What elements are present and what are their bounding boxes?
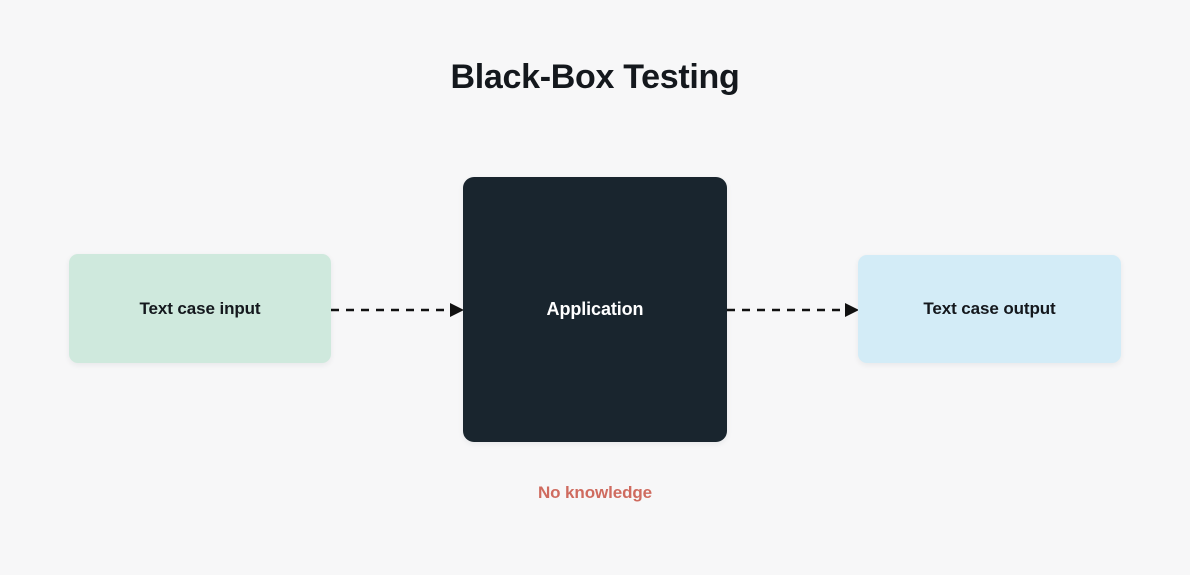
arrowhead-icon (845, 303, 859, 317)
node-output-label: Text case output (923, 299, 1055, 319)
node-text-case-input: Text case input (69, 254, 331, 363)
arrowhead-icon (450, 303, 464, 317)
node-text-case-output: Text case output (858, 255, 1121, 363)
diagram-canvas: Black-Box Testing Text case input Applic… (0, 0, 1190, 575)
arrow-input-to-application (331, 296, 464, 324)
no-knowledge-caption: No knowledge (463, 483, 727, 503)
arrow-application-to-output (727, 296, 859, 324)
node-input-label: Text case input (140, 299, 261, 319)
page-title: Black-Box Testing (0, 58, 1190, 97)
node-application: Application (463, 177, 727, 442)
node-application-label: Application (547, 299, 644, 320)
